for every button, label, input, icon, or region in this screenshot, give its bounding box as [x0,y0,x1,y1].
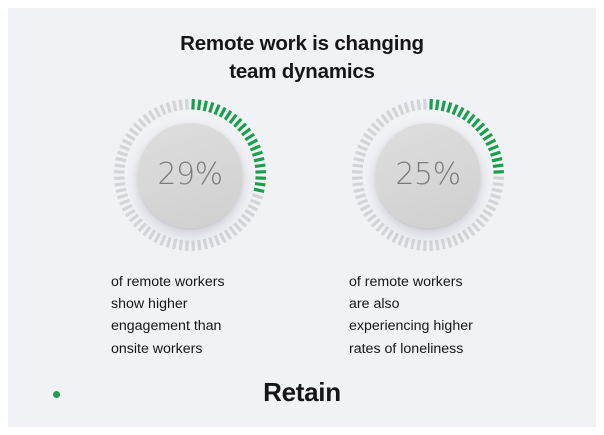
gauge-disc: 25% [375,122,481,228]
gauge-value-label: 25% [395,160,460,190]
stats-row: 29% of remote workers show higher engage… [8,97,596,361]
brand-wordmark: Retain [263,379,341,405]
gauge-chart-2: 25% [350,97,506,253]
stat-caption: of remote workers are also experiencing … [343,271,513,361]
infographic-card: Remote work is changing team dynamics 29… [8,8,596,427]
stat-caption: of remote workers show higher engagement… [105,271,275,361]
gauge-disc: 29% [137,122,243,228]
stat-block: 29% of remote workers show higher engage… [105,97,275,361]
brand-accent-dot-icon [53,391,60,398]
stat-block: 25% of remote workers are also experienc… [343,97,513,361]
gauge-value-label: 29% [157,160,222,190]
page-title: Remote work is changing team dynamics [72,8,532,87]
gauge-chart-1: 29% [112,97,268,253]
brand-logo: Retain [8,379,596,405]
